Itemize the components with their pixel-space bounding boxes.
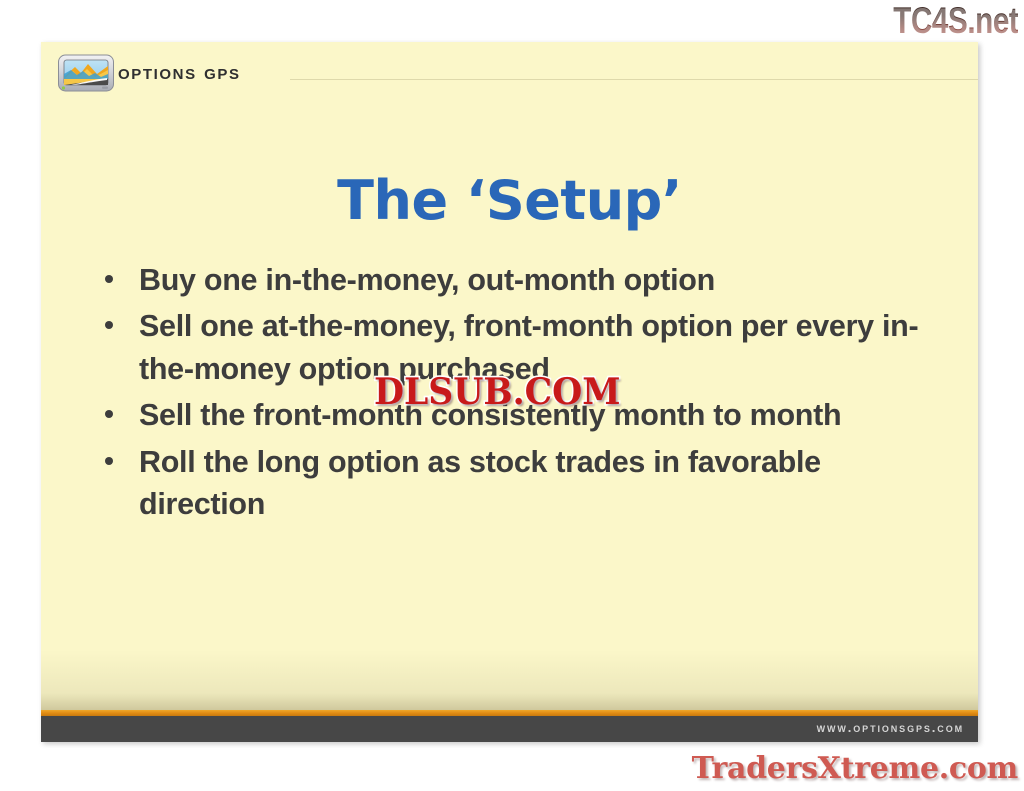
bullet-dot-icon <box>105 410 113 418</box>
dlsub-watermark: DLSUB.COM <box>374 371 620 413</box>
bullet-dot-icon <box>105 321 113 329</box>
slide-footer: WWW.OPTIONSGPS.COM <box>41 716 978 742</box>
slide-header: Options GPS <box>41 42 978 104</box>
site-brand-tc4s: TC4S.net <box>893 2 1018 39</box>
bullet-dot-icon <box>105 457 113 465</box>
list-item: Roll the long option as stock trades in … <box>96 441 938 526</box>
footer-website-url: WWW.OPTIONSGPS.COM <box>817 720 964 735</box>
page-title: The ‘Setup’ <box>41 169 978 232</box>
list-item-text: Buy one in-the-money, out-month option <box>139 263 715 297</box>
tradersxtreme-watermark: TradersXtreme.com <box>692 751 1018 786</box>
options-gps-wordmark: Options GPS <box>118 61 241 85</box>
footer-gradient-fade <box>41 650 978 710</box>
gps-device-icon <box>57 53 115 95</box>
header-divider-rule <box>290 79 978 80</box>
list-item-text: Roll the long option as stock trades in … <box>139 445 821 521</box>
bullet-dot-icon <box>105 275 113 283</box>
list-item: Buy one in-the-money, out-month option <box>96 259 938 301</box>
